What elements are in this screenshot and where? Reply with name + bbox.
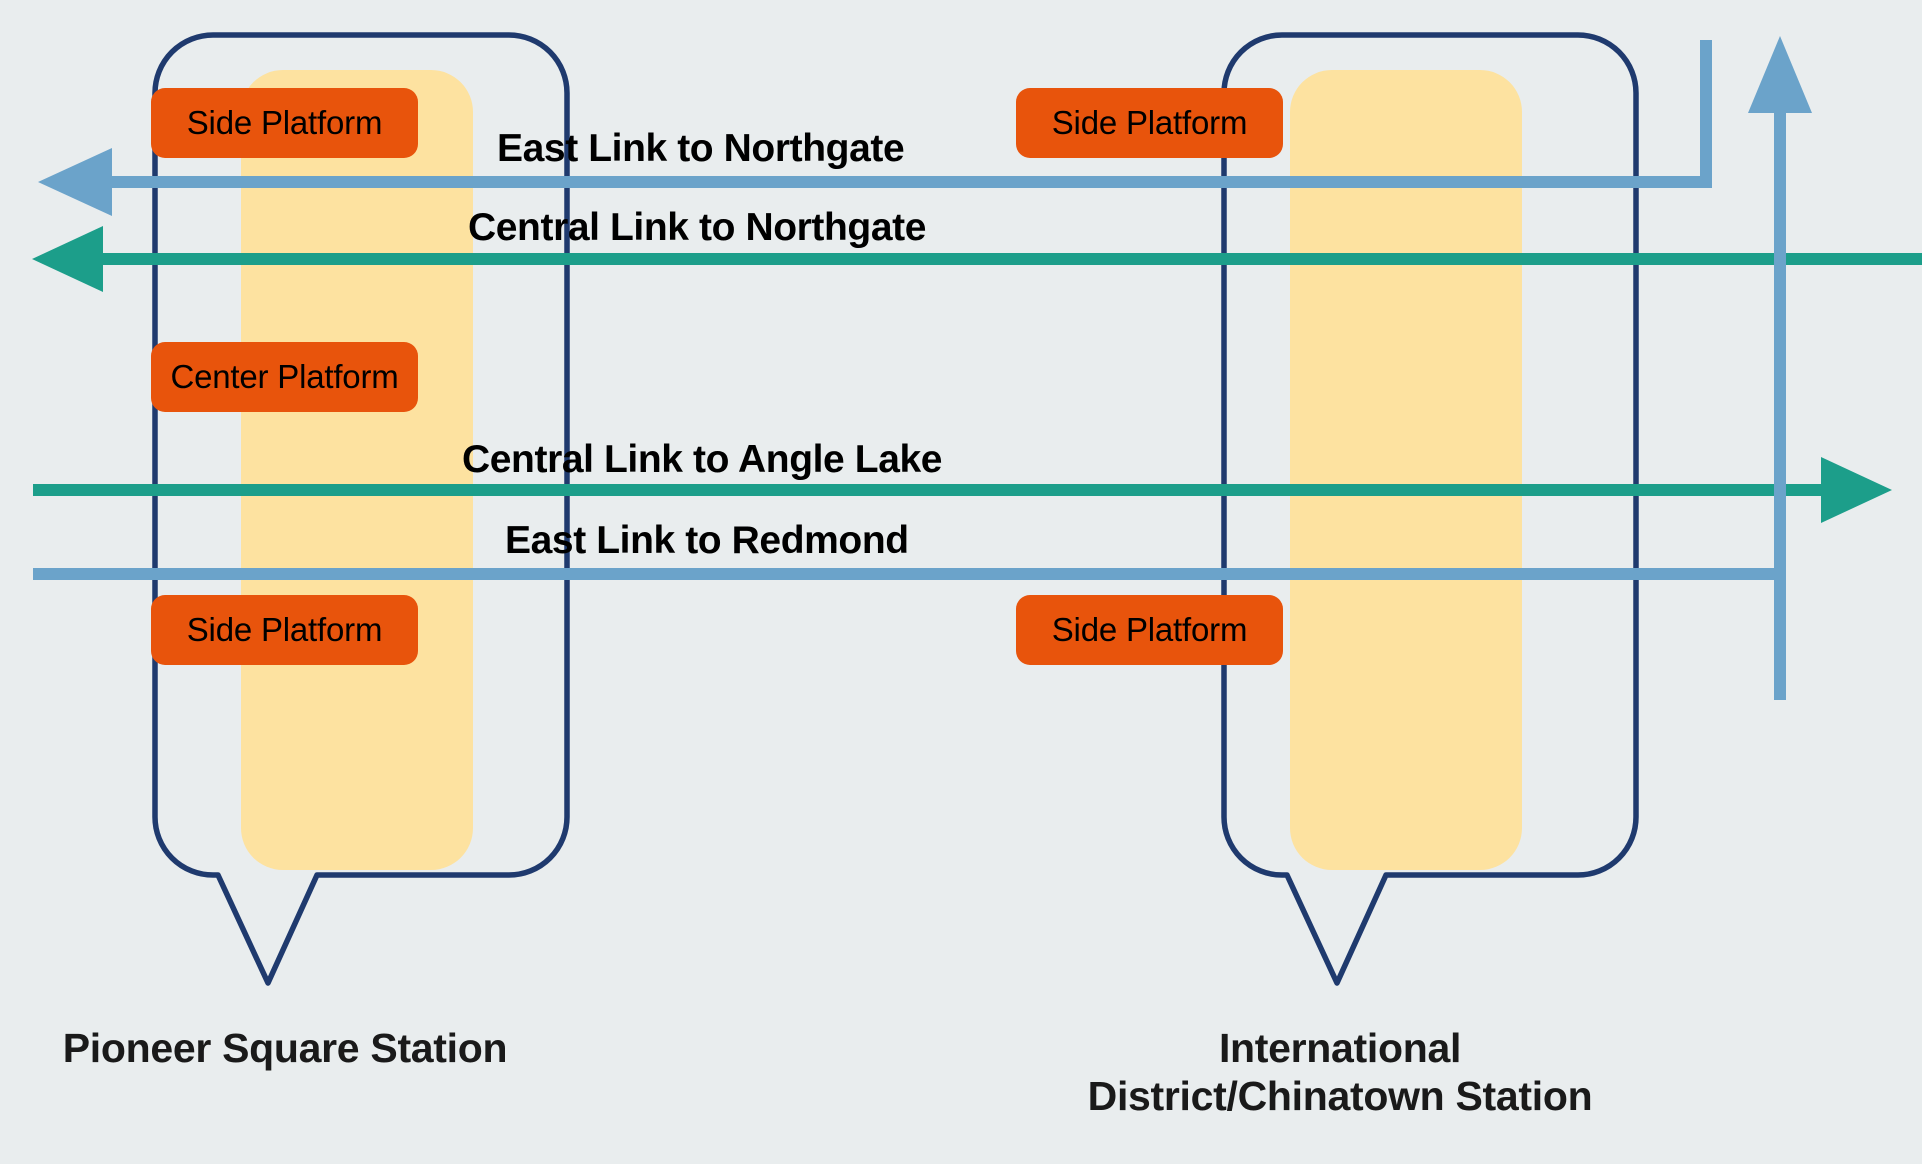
station-name-line-1: International: [830, 1025, 1850, 1073]
platform-label: Side Platform: [1052, 611, 1247, 649]
northbound-up-arrow-head: [1748, 36, 1812, 113]
transit-station-diagram: Side Platform Center Platform Side Platf…: [0, 0, 1922, 1164]
station-name-international-district: International District/Chinatown Station: [830, 1025, 1850, 1121]
route-label-central-link-northgate: Central Link to Northgate: [468, 206, 926, 250]
central-link-northgate-arrowhead-west: [32, 226, 103, 292]
station-name-line-2: District/Chinatown Station: [830, 1073, 1850, 1121]
route-label-central-link-angle-lake: Central Link to Angle Lake: [462, 438, 942, 482]
route-label-east-link-redmond: East Link to Redmond: [505, 519, 909, 563]
platform-label: Side Platform: [187, 104, 382, 142]
platform-pioneer-square-center[interactable]: Center Platform: [151, 342, 418, 412]
route-label-east-link-northgate: East Link to Northgate: [497, 127, 904, 171]
platform-label: Side Platform: [1052, 104, 1247, 142]
platform-label: Center Platform: [170, 358, 398, 396]
platform-label: Side Platform: [187, 611, 382, 649]
platform-international-district-south-side[interactable]: Side Platform: [1016, 595, 1283, 665]
platform-pioneer-square-north-side[interactable]: Side Platform: [151, 88, 418, 158]
east-link-northgate-arrowhead-west: [38, 148, 112, 216]
northbound-up-arrow: [1748, 36, 1812, 700]
track-area-pioneer-square: [241, 70, 473, 870]
track-area-international-district: [1290, 70, 1522, 870]
platform-international-district-north-side[interactable]: Side Platform: [1016, 88, 1283, 158]
diagram-canvas: [0, 0, 1922, 1164]
platform-pioneer-square-south-side[interactable]: Side Platform: [151, 595, 418, 665]
station-name-pioneer-square: Pioneer Square Station: [0, 1025, 570, 1073]
central-link-angle-lake-arrowhead-east: [1821, 457, 1892, 523]
